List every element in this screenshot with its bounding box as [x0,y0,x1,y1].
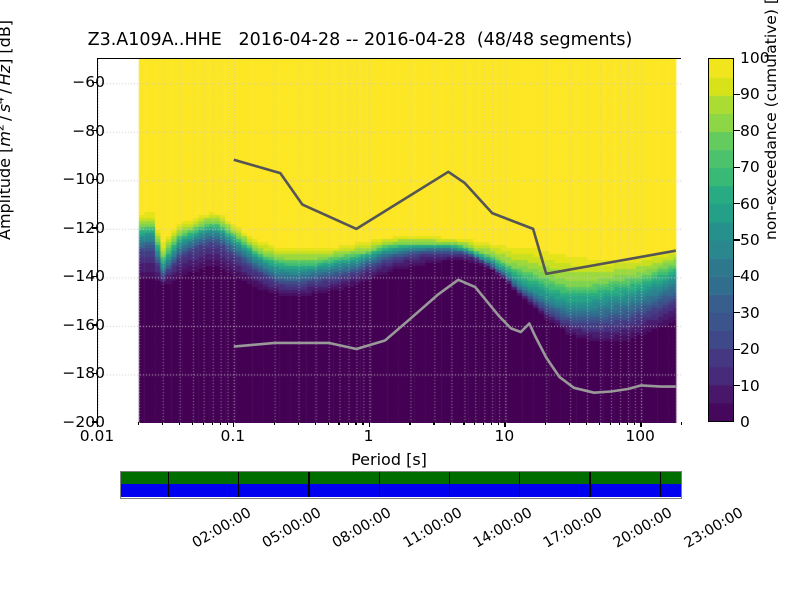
x-tick-minor-mark [483,422,484,425]
colorbar-tick-label: 20 [740,340,760,358]
x-tick-minor-mark [203,422,204,425]
x-tick-minor-mark [220,422,221,425]
colorbar-tick-mark [734,94,740,95]
x-tick-label: 100 [625,427,655,445]
x-tick-minor-mark [491,422,492,425]
x-tick-minor-mark [474,422,475,425]
colorbar-tick-mark [734,130,740,131]
y-axis-label: Amplitude [m2 / s4 / Hz] [dB] [0,20,14,240]
x-tick-minor-mark [463,422,464,425]
coverage-row-green [121,472,681,484]
colorbar-tick-mark [734,276,740,277]
timebar-tick-mark [379,472,380,497]
coverage-row-blue [121,484,681,497]
timebar-tick-label: 20:00:00 [611,505,675,551]
x-tick-minor-mark [348,422,349,425]
x-tick-minor-mark [433,422,434,425]
y-tick-mark [92,276,98,277]
noise-model-nhnm [234,160,676,274]
timebar-tick-mark [168,472,169,497]
y-tick-label: −60 [72,73,105,91]
colorbar-tick-mark [734,349,740,350]
x-tick-minor-mark [328,422,329,425]
colorbar-label: non-exceedance (cumulative) [%] [762,0,780,240]
x-tick-minor-mark [315,422,316,425]
x-tick-minor-mark [338,422,339,425]
timebar-tick-mark [238,472,239,497]
colorbar [708,58,734,422]
x-tick-minor-mark [362,422,363,425]
y-tick-label: −80 [72,122,105,140]
x-tick-minor-mark [586,422,587,425]
x-tick-minor-mark [634,422,635,425]
y-tick-mark [92,227,98,228]
y-tick-label: −180 [62,364,105,382]
colorbar-gradient [709,59,733,421]
x-tick-label: 1 [364,427,374,445]
y-tick-label: −160 [62,316,105,334]
x-tick-minor-mark [298,422,299,425]
x-tick-minor-mark [179,422,180,425]
timebar-tick-label: 14:00:00 [471,505,535,551]
x-tick-minor-mark [450,422,451,425]
timebar-tick-label: 05:00:00 [260,505,324,551]
x-tick-minor-mark [192,422,193,425]
ppsd-figure: Z3.A109A..HHE 2016-04-28 -- 2016-04-28 (… [0,0,800,600]
timebar-tick-label: 02:00:00 [190,505,254,551]
x-tick-minor-mark [212,422,213,425]
y-tick-mark [92,130,98,131]
x-tick-minor-mark [619,422,620,425]
x-tick-minor-mark [355,422,356,425]
colorbar-tick-mark [734,167,740,168]
x-tick-minor-mark [545,422,546,425]
colorbar-tick-label: 50 [740,231,760,249]
timebar-tick-label: 23:00:00 [681,505,745,551]
noise-model-nlnm [234,280,676,393]
y-axis-label-text: Amplitude [m2 / s4 / Hz] [dB] [0,20,14,240]
y-tick-mark [92,373,98,374]
x-tick-label: 10 [494,427,514,445]
x-tick-minor-mark [498,422,499,425]
plot-title: Z3.A109A..HHE 2016-04-28 -- 2016-04-28 (… [0,30,720,50]
y-tick-label: −120 [62,219,105,237]
timebar-tick-label: 11:00:00 [400,505,464,551]
data-coverage-bar [120,471,682,499]
y-tick-mark [92,179,98,180]
timebar-tick-label: 17:00:00 [541,505,605,551]
y-tick-label: −140 [62,267,105,285]
colorbar-tick-label: 0 [740,413,750,431]
colorbar-tick-label: 80 [740,122,760,140]
x-tick-minor-mark [409,422,410,425]
colorbar-tick-label: 70 [740,158,760,176]
colorbar-tick-mark [734,312,740,313]
y-tick-mark [92,82,98,83]
timebar-tick-mark [449,472,450,497]
y-tick-mark [92,324,98,325]
x-tick-label: 0.1 [220,427,245,445]
x-tick-label: 0.01 [80,427,115,445]
timebar-tick-mark [519,472,520,497]
colorbar-tick-mark [734,239,740,240]
x-tick-minor-mark [274,422,275,425]
timebar-tick-label: 08:00:00 [330,505,394,551]
colorbar-tick-label: 40 [740,267,760,285]
x-tick-minor-mark [610,422,611,425]
noise-model-lines [98,59,682,423]
timebar-tick-mark [589,472,590,497]
x-tick-minor-mark [681,422,682,425]
x-tick-minor-mark [599,422,600,425]
x-tick-minor-mark [227,422,228,425]
colorbar-tick-label: 60 [740,195,760,213]
x-tick-minor-mark [162,422,163,425]
timebar-tick-mark [660,472,661,497]
ppsd-axes [97,58,681,422]
colorbar-tick-mark [734,385,740,386]
y-tick-label: −100 [62,170,105,188]
x-axis-label: Period [s] [97,450,681,469]
x-tick-minor-mark [569,422,570,425]
colorbar-tick-label: 10 [740,377,760,395]
colorbar-tick-label: 90 [740,85,760,103]
x-tick-minor-mark [138,422,139,425]
x-tick-minor-mark [627,422,628,425]
timebar-tick-mark [308,472,309,497]
colorbar-tick-mark [734,203,740,204]
colorbar-tick-label: 30 [740,304,760,322]
